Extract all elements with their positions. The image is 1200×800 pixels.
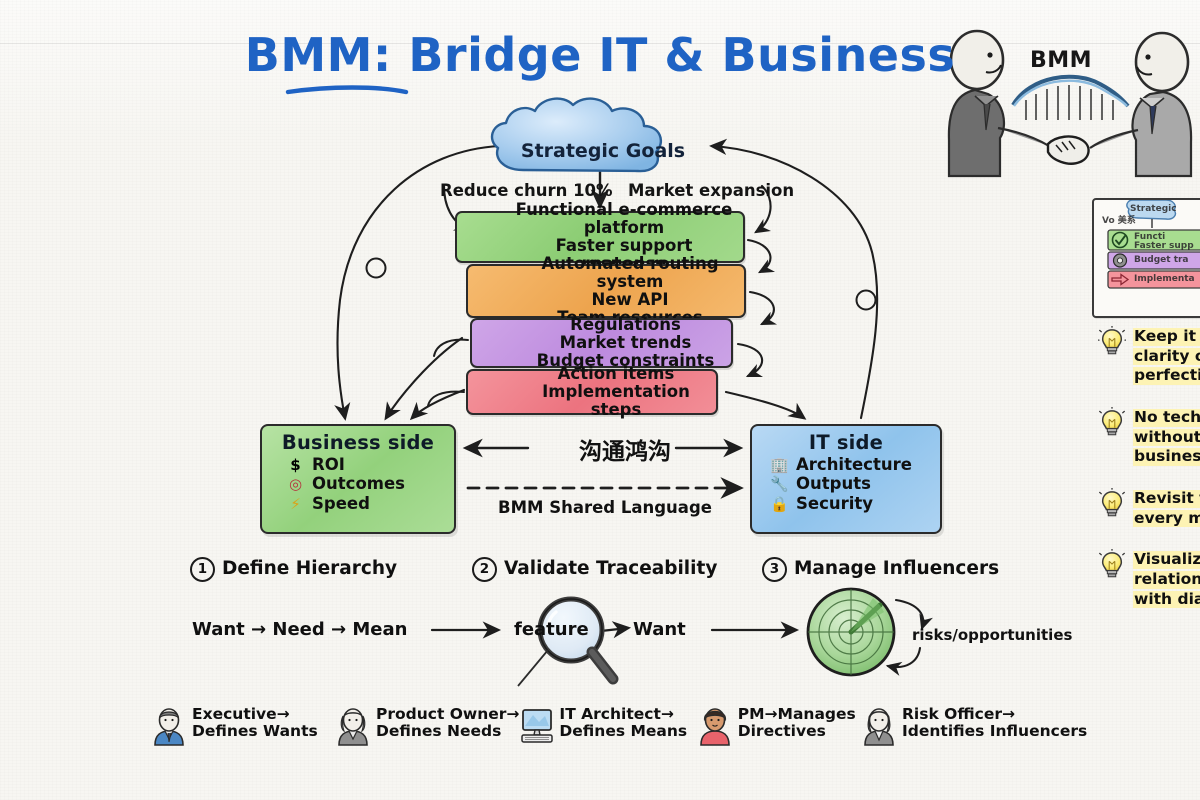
- tip-1-line1: Keep it s: [1133, 328, 1200, 346]
- lock-icon: 🔒: [770, 496, 789, 513]
- persona-executive: Executive→ Defines Wants: [152, 706, 336, 750]
- thumbnail-scribble-6: Implementa: [1134, 274, 1195, 284]
- tip-3-line1: Revisit t: [1133, 490, 1200, 508]
- step-2-heading: 2Validate Traceability: [472, 557, 717, 582]
- step-2-number: 2: [472, 557, 497, 582]
- means-box[interactable]: Automated routing system New API Team re…: [466, 264, 746, 318]
- page-title: BMM: Bridge IT & Business: [0, 28, 1200, 82]
- persona-risk-officer: Risk Officer→ Identifies Influencers: [862, 706, 1082, 750]
- product-owner-avatar: [336, 706, 370, 750]
- it-side-title: IT side: [752, 431, 940, 454]
- persona-product-owner-line1: Product Owner→: [376, 706, 519, 723]
- edge-label-reduce-churn: Reduce churn 10%: [440, 181, 613, 200]
- tip-2-line3: business: [1133, 448, 1200, 466]
- directives-line-1: Action items: [526, 365, 706, 383]
- business-side-title: Business side: [262, 431, 454, 454]
- persona-risk-officer-line1: Risk Officer→: [902, 706, 1087, 723]
- it-item-outputs-label: Outputs: [796, 475, 871, 493]
- thumbnail-scribble-5: Budget tra: [1134, 255, 1189, 265]
- business-item-outcomes: ◎ Outcomes: [286, 475, 454, 493]
- influencers-box[interactable]: Regulations Market trends Budget constra…: [470, 318, 733, 368]
- it-item-security: 🔒 Security: [770, 495, 940, 513]
- step-2-label: Validate Traceability: [504, 558, 717, 579]
- persona-row: Executive→ Defines Wants Product Owner→ …: [152, 706, 1082, 770]
- whiteboard-canvas: BMM: Bridge IT & Business BMM Strategic …: [0, 0, 1200, 800]
- strategic-goals-label: Strategic Goals: [505, 140, 701, 162]
- tip-3-line2: every m: [1133, 510, 1200, 528]
- business-item-roi: $ ROI: [286, 456, 454, 474]
- risks-opportunities-label: risks/opportunities: [912, 626, 1072, 644]
- tips-list: Keep it s clarity o perfecti No tech: [1098, 326, 1200, 630]
- persona-product-owner-line2: Defines Needs: [376, 723, 519, 740]
- ends-line-1: Functional e-commerce platform: [515, 201, 733, 237]
- business-side-list: $ ROI ◎ Outcomes ⚡ Speed: [262, 456, 454, 513]
- tip-2: No tech without business: [1098, 407, 1200, 466]
- diagram-thumbnail[interactable]: Strategic Vo 美系 Functi Faster supp Budge…: [1092, 198, 1200, 318]
- dollar-icon: $: [286, 457, 305, 474]
- thumbnail-scribble-4: Faster supp: [1134, 241, 1194, 251]
- tip-4: Visualiz relations with dia: [1098, 549, 1200, 608]
- executive-avatar: [152, 706, 186, 750]
- step-1-heading: 1Define Hierarchy: [190, 557, 397, 582]
- pm-avatar: [698, 706, 732, 750]
- influencers-line-1: Regulations: [530, 316, 721, 334]
- persona-pm-line2: Directives: [738, 723, 856, 740]
- step-2-flow-from: feature: [514, 619, 589, 640]
- lightbulb-icon: [1098, 549, 1128, 585]
- tip-4-line3: with dia: [1133, 591, 1200, 609]
- target-icon: ◎: [286, 476, 305, 493]
- step-1-number: 1: [190, 557, 215, 582]
- tip-1-line2: clarity o: [1133, 348, 1200, 366]
- business-item-roi-label: ROI: [312, 456, 345, 474]
- it-item-outputs: 🔧 Outputs: [770, 475, 940, 493]
- means-line-1: Automated routing system: [526, 255, 734, 291]
- wrench-icon: 🔧: [770, 476, 789, 493]
- means-line-2: New API: [526, 291, 734, 309]
- directives-box[interactable]: Action items Implementation steps: [466, 369, 718, 415]
- influencers-line-2: Market trends: [530, 334, 721, 352]
- step-1-label: Define Hierarchy: [222, 558, 397, 579]
- persona-product-owner: Product Owner→ Defines Needs: [336, 706, 519, 750]
- it-side-box[interactable]: IT side 🏢 Architecture 🔧 Outputs 🔒 Secur…: [750, 424, 942, 534]
- persona-pm: PM→Manages Directives: [698, 706, 862, 750]
- persona-executive-line1: Executive→: [192, 706, 318, 723]
- magnifying-glass-icon: [518, 599, 613, 686]
- it-item-architecture: 🏢 Architecture: [770, 456, 940, 474]
- tip-1-line3: perfecti: [1133, 367, 1200, 385]
- business-item-speed-label: Speed: [312, 495, 370, 513]
- tip-2-line1: No tech: [1133, 409, 1200, 427]
- building-icon: 🏢: [770, 457, 789, 474]
- persona-it-architect-line1: IT Architect→: [559, 706, 687, 723]
- step-1-flow: Want → Need → Mean: [192, 619, 407, 640]
- business-item-speed: ⚡ Speed: [286, 495, 454, 513]
- it-item-security-label: Security: [796, 495, 873, 513]
- it-side-list: 🏢 Architecture 🔧 Outputs 🔒 Security: [752, 456, 940, 513]
- step-3-label: Manage Influencers: [794, 558, 999, 579]
- persona-it-architect: IT Architect→ Defines Means: [519, 706, 697, 750]
- bmm-bridge-label: BMM: [1030, 48, 1092, 73]
- business-item-outcomes-label: Outcomes: [312, 475, 405, 493]
- tip-1: Keep it s clarity o perfecti: [1098, 326, 1200, 385]
- directives-line-2: Implementation steps: [526, 383, 706, 419]
- lightbulb-icon: [1098, 407, 1128, 443]
- risk-officer-avatar: [862, 706, 896, 750]
- it-architect-avatar: [519, 706, 553, 750]
- communication-gap-label: 沟通鸿沟: [540, 432, 710, 466]
- thumbnail-scribble-1: Strategic: [1130, 204, 1177, 214]
- persona-pm-line1: PM→Manages: [738, 706, 856, 723]
- lightbulb-icon: [1098, 326, 1128, 362]
- lightning-icon: ⚡: [286, 496, 305, 513]
- tip-4-line2: relations: [1133, 571, 1200, 589]
- edge-label-market-expansion: Market expansion: [628, 181, 794, 200]
- step-3-number: 3: [762, 557, 787, 582]
- lightbulb-icon: [1098, 488, 1128, 524]
- thumbnail-scribble-2: Vo 美系: [1102, 213, 1136, 226]
- step-3-heading: 3Manage Influencers: [762, 557, 999, 582]
- business-side-box[interactable]: Business side $ ROI ◎ Outcomes ⚡ Speed: [260, 424, 456, 534]
- tip-4-line1: Visualiz: [1133, 551, 1200, 569]
- shared-language-label: BMM Shared Language: [485, 498, 725, 517]
- step-2-flow-to: Want: [633, 619, 686, 640]
- persona-risk-officer-line2: Identifies Influencers: [902, 723, 1087, 740]
- persona-it-architect-line2: Defines Means: [559, 723, 687, 740]
- persona-executive-line2: Defines Wants: [192, 723, 318, 740]
- tip-3: Revisit t every m: [1098, 488, 1200, 527]
- it-item-architecture-label: Architecture: [796, 456, 912, 474]
- radar-scope-icon: [808, 589, 894, 675]
- tip-2-line2: without: [1133, 429, 1200, 447]
